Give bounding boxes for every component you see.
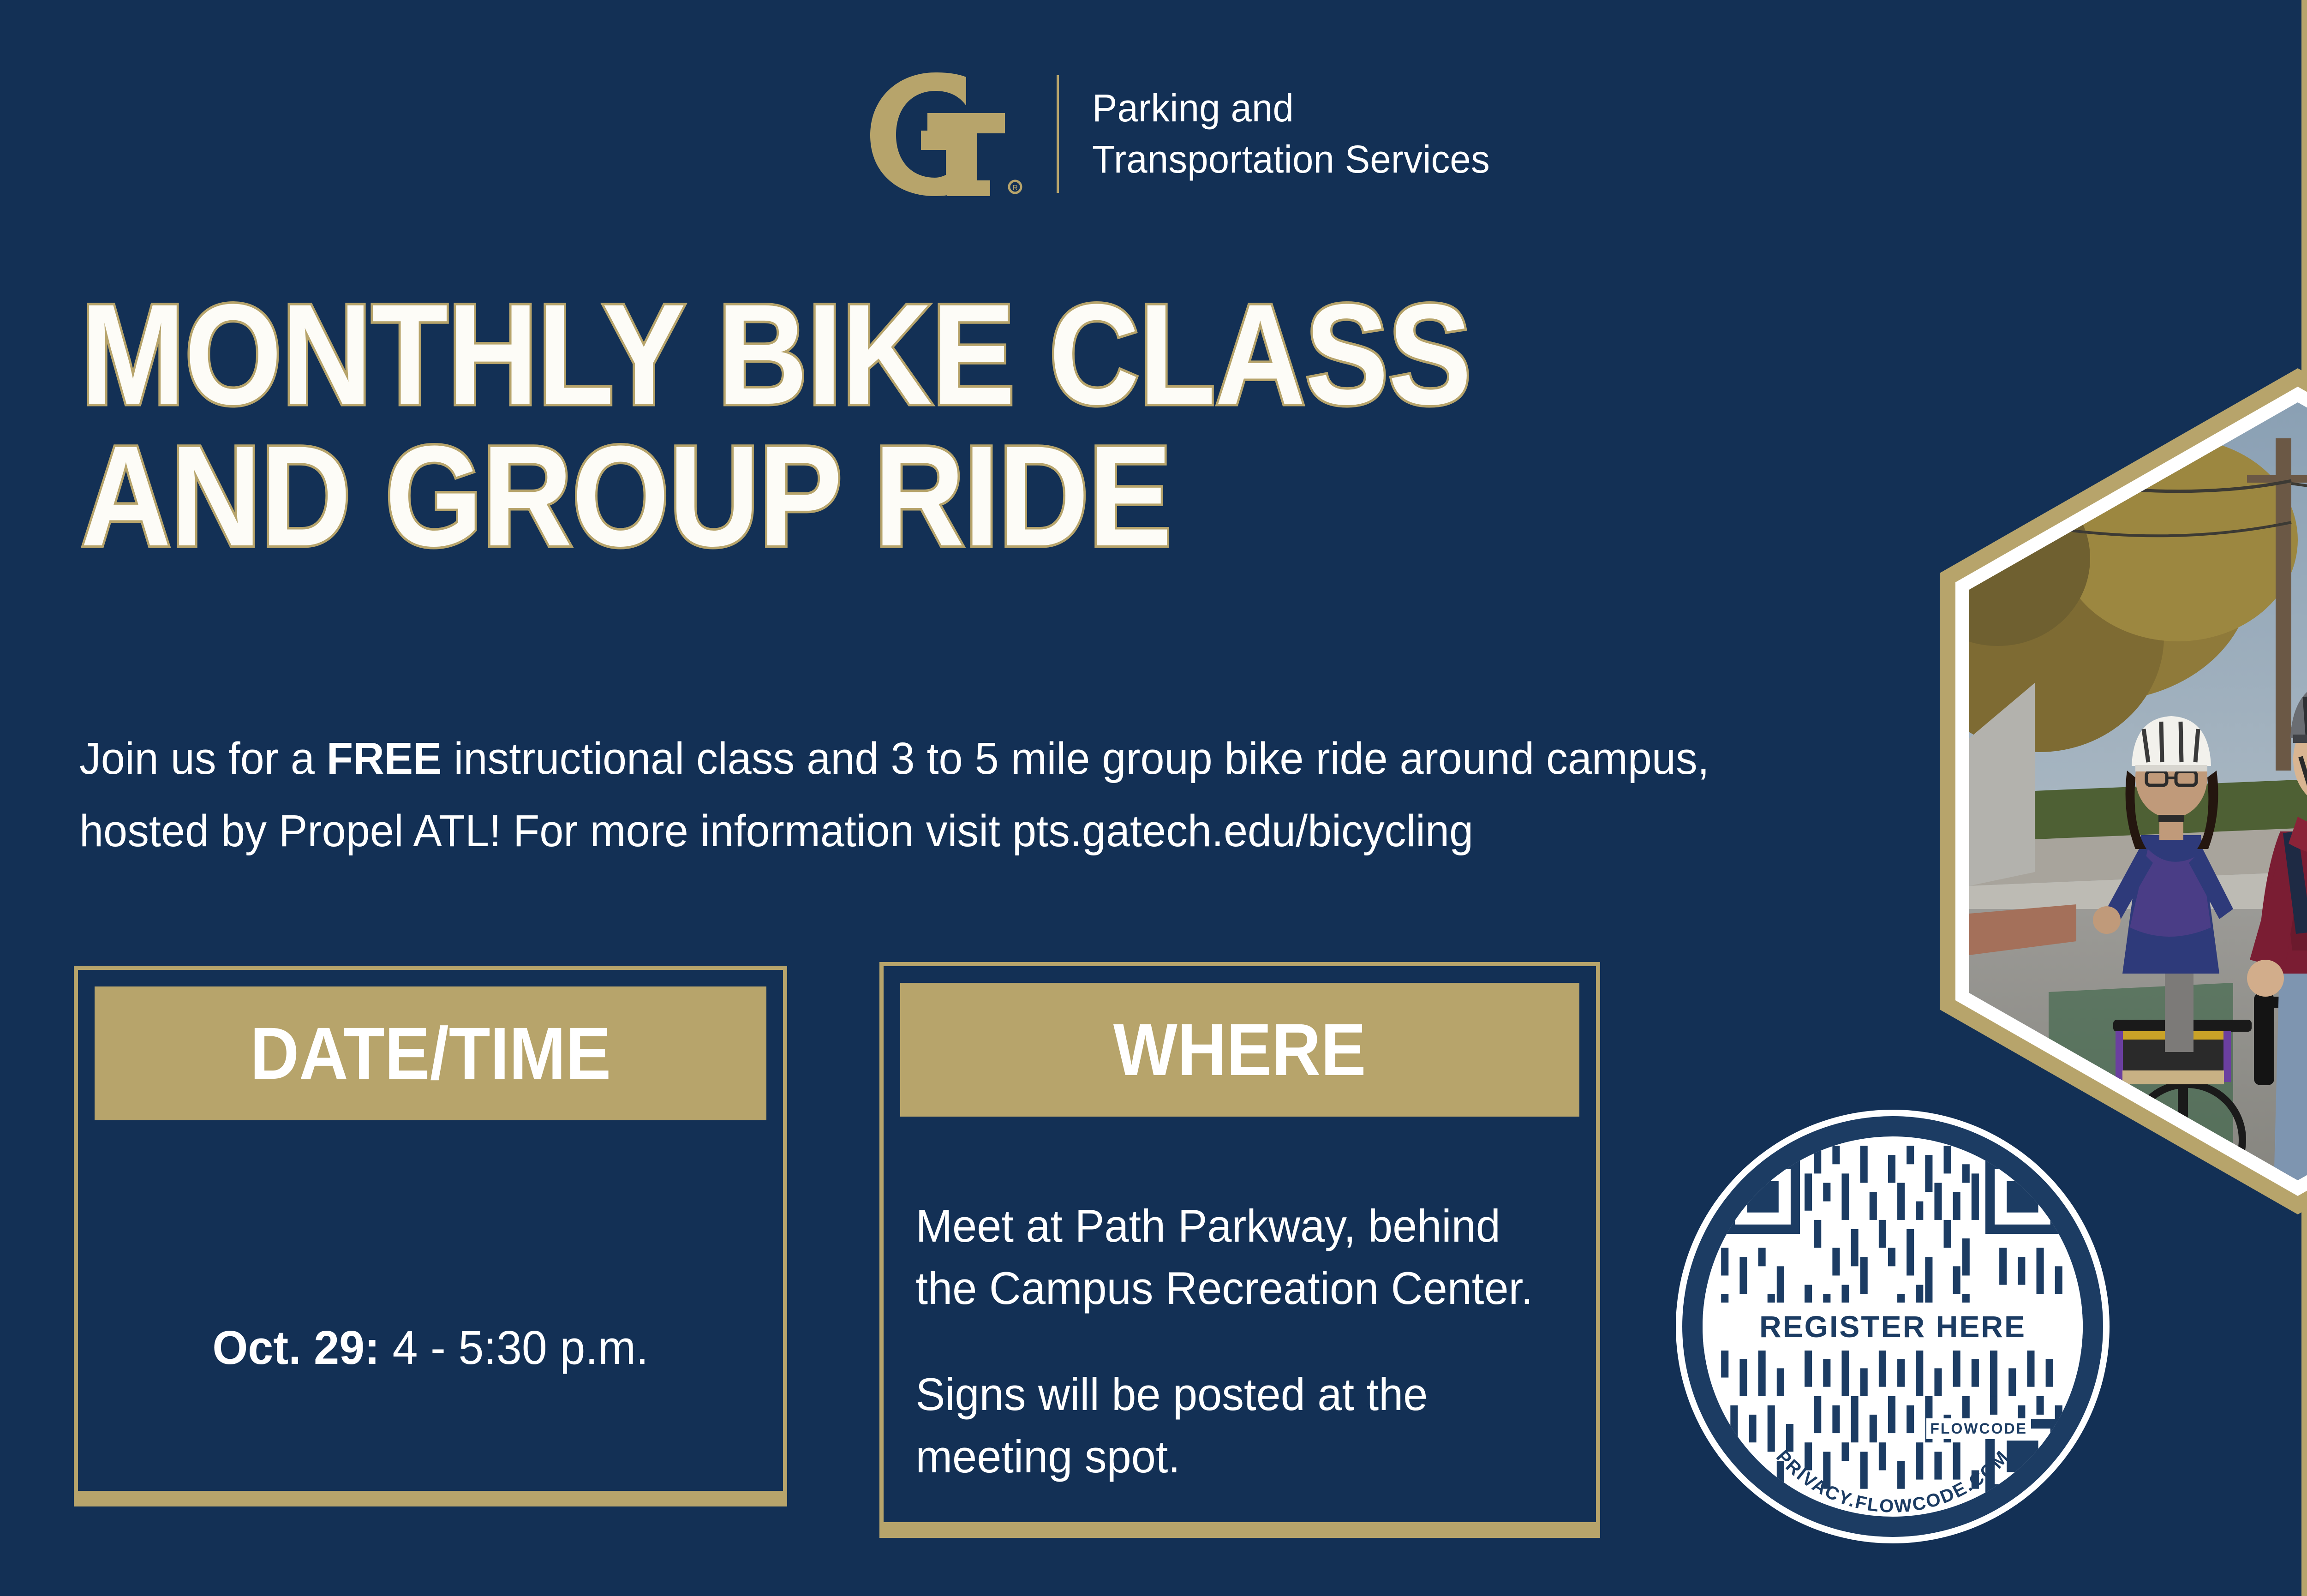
page-title: MONTHLY BIKE CLASS AND GROUP RIDE <box>81 284 2065 567</box>
where-box: WHERE Meet at Path Parkway, behind the C… <box>879 962 1600 1538</box>
where-line-1: Meet at Path Parkway, behind the Campus … <box>915 1200 1533 1314</box>
logo-department-text: Parking and Transportation Services <box>1092 83 1502 185</box>
qr-flowcode-brand-label: FLOWCODE <box>1926 1418 2031 1439</box>
where-box-header-label: WHERE <box>1113 1007 1366 1092</box>
date-time-box-header-label: DATE/TIME <box>250 1011 611 1096</box>
where-box-header: WHERE <box>900 983 1579 1117</box>
logo-department-line-2: Transportation Services <box>1092 134 1490 185</box>
gt-pts-logo-lockup: R Parking and Transportation Services <box>867 69 1502 198</box>
where-box-body: Meet at Path Parkway, behind the Campus … <box>884 1126 1596 1522</box>
gt-logo-icon: R <box>867 71 1029 197</box>
body-description: Join us for a FREE instructional class a… <box>79 722 1838 867</box>
where-line-2: Signs will be posted at the meeting spot… <box>915 1369 1428 1482</box>
svg-text:R: R <box>1012 184 1018 192</box>
qr-code-field: REGISTER HERE FLOWCODE <box>1703 1136 2083 1517</box>
date-time-value: Oct. 29: 4 - 5:30 p.m. <box>92 1321 769 1375</box>
headline-line-1: MONTHLY BIKE CLASS <box>81 284 1817 425</box>
flyer-canvas: R Parking and Transportation Services MO… <box>0 0 2307 1596</box>
where-text-block: Meet at Path Parkway, behind the Campus … <box>884 1195 1571 1488</box>
date-label: Oct. 29: <box>212 1321 380 1374</box>
logo-divider-rule <box>1057 75 1059 193</box>
date-time-box: DATE/TIME Oct. 29: 4 - 5:30 p.m. <box>74 966 787 1506</box>
where-paragraph-gap <box>915 1319 1558 1363</box>
date-time-box-body: Oct. 29: 4 - 5:30 p.m. <box>78 1130 783 1491</box>
time-value: 4 - 5:30 p.m. <box>380 1321 649 1374</box>
date-time-box-header: DATE/TIME <box>95 986 766 1120</box>
register-qr-code[interactable]: REGISTER HERE FLOWCODE PRIVACY.FLOWCODE.… <box>1676 1110 2110 1543</box>
headline-line-2: AND GROUP RIDE <box>81 425 1817 567</box>
body-text-part-1: Join us for a <box>79 733 327 783</box>
logo-department-line-1: Parking and <box>1092 83 1490 134</box>
body-text-free-emphasis: FREE <box>327 733 442 783</box>
qr-center-label: REGISTER HERE <box>1703 1303 2083 1351</box>
